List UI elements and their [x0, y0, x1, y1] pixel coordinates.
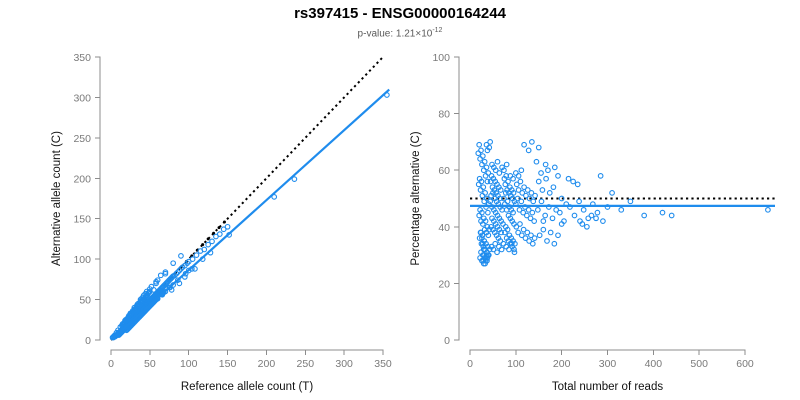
x-axis-title: Reference allele count (T)	[181, 381, 313, 393]
data-point	[539, 171, 544, 176]
y-tick-label: 50	[79, 295, 91, 307]
y-axis-line	[95, 57, 100, 340]
data-point	[179, 254, 184, 259]
data-point	[536, 208, 541, 213]
data-point	[483, 174, 488, 179]
data-point	[536, 179, 541, 184]
x-tick-label: 100	[180, 358, 198, 370]
data-point	[572, 213, 577, 218]
x-tick-label: 150	[219, 358, 237, 370]
data-point	[556, 233, 561, 238]
data-point	[171, 261, 176, 266]
x-tick-label: 400	[645, 358, 663, 370]
y-tick-label: 0	[85, 335, 91, 347]
y-tick-label: 200	[73, 173, 91, 185]
data-point	[575, 182, 580, 187]
data-point	[495, 250, 500, 255]
data-point	[766, 208, 771, 213]
data-point	[482, 159, 487, 164]
data-point	[476, 151, 481, 156]
data-point	[504, 244, 509, 249]
data-point	[546, 168, 551, 173]
data-point	[497, 244, 502, 249]
data-point	[595, 210, 600, 215]
x-tick-label: 100	[507, 358, 525, 370]
data-point	[194, 253, 199, 258]
data-point	[486, 210, 491, 215]
y-tick-label: 60	[438, 165, 450, 177]
data-point	[547, 191, 552, 196]
data-point	[550, 216, 555, 221]
percentage-alternative-panel: 0100200300400500600Total number of reads…	[400, 0, 800, 400]
median-marker	[207, 237, 210, 240]
data-point	[507, 247, 512, 252]
data-layer	[470, 140, 778, 266]
data-point	[505, 199, 510, 204]
data-point	[669, 213, 674, 218]
y-tick-label: 20	[438, 278, 450, 290]
data-point	[190, 257, 195, 262]
y-tick-label: 300	[73, 92, 91, 104]
data-point	[589, 213, 594, 218]
data-point	[512, 250, 517, 255]
data-point	[484, 142, 489, 147]
y-tick-label: 100	[73, 254, 91, 266]
data-point	[481, 168, 486, 173]
data-point	[478, 157, 483, 162]
data-point	[558, 210, 563, 215]
data-point	[594, 216, 599, 221]
data-point	[497, 171, 502, 176]
data-point	[522, 142, 527, 147]
data-point	[210, 239, 215, 244]
data-point	[543, 213, 548, 218]
data-point	[518, 222, 523, 227]
data-point	[504, 208, 509, 213]
data-point	[531, 199, 536, 204]
data-point	[545, 239, 550, 244]
data-point	[479, 148, 484, 153]
data-point	[660, 210, 665, 215]
y-tick-label: 150	[73, 214, 91, 226]
data-point	[543, 162, 548, 167]
data-point	[541, 219, 546, 224]
x-tick-label: 0	[467, 358, 473, 370]
data-point	[477, 213, 482, 218]
data-point	[218, 232, 223, 237]
data-point	[552, 241, 557, 246]
data-point	[483, 191, 488, 196]
data-point	[519, 168, 524, 173]
data-point	[478, 188, 483, 193]
data-point	[566, 176, 571, 181]
data-point	[526, 148, 531, 153]
data-point	[225, 225, 230, 230]
x-tick-label: 0	[108, 358, 114, 370]
data-point	[503, 182, 508, 187]
x-tick-label: 200	[553, 358, 571, 370]
data-point	[482, 199, 487, 204]
x-tick-label: 600	[736, 358, 754, 370]
y-tick-label: 100	[432, 52, 450, 64]
y-axis-line	[454, 57, 459, 340]
x-tick-label: 200	[258, 358, 276, 370]
data-point	[514, 171, 519, 176]
data-point	[481, 154, 486, 159]
allele-count-panel: 050100150200250300350Reference allele co…	[0, 0, 400, 400]
data-point	[518, 179, 523, 184]
y-tick-label: 250	[73, 133, 91, 145]
data-point	[642, 213, 647, 218]
data-point	[530, 210, 535, 215]
data-point	[619, 208, 624, 213]
y-axis-title: Alternative allele count (C)	[51, 131, 63, 266]
data-point	[610, 191, 615, 196]
data-point	[577, 199, 582, 204]
data-point	[480, 193, 485, 198]
data-point	[598, 174, 603, 179]
x-axis-title: Total number of reads	[552, 381, 663, 393]
data-point	[530, 140, 535, 145]
x-axis-line	[111, 350, 383, 355]
y-tick-label: 0	[444, 335, 450, 347]
data-point	[534, 159, 539, 164]
data-point	[532, 219, 537, 224]
data-point	[481, 185, 486, 190]
data-point	[533, 193, 538, 198]
data-point	[537, 233, 542, 238]
data-point	[480, 162, 485, 167]
median-marker	[223, 220, 226, 223]
data-point	[516, 174, 521, 179]
data-point	[548, 230, 553, 235]
data-point	[551, 185, 556, 190]
y-tick-label: 350	[73, 52, 91, 64]
y-axis-title: Percentage alternative (C)	[410, 131, 422, 265]
data-point	[556, 174, 561, 179]
data-point	[539, 199, 544, 204]
data-point	[540, 188, 545, 193]
y-tick-label: 80	[438, 109, 450, 121]
x-tick-label: 50	[144, 358, 156, 370]
data-point	[476, 182, 481, 187]
data-point	[601, 219, 606, 224]
data-point	[506, 179, 511, 184]
data-point	[544, 176, 549, 181]
data-point	[499, 247, 504, 252]
data-point	[541, 227, 546, 232]
figure-root: rs397415 - ENSG00000164244 p-value: 1.21…	[0, 0, 800, 400]
fit-line	[113, 90, 390, 339]
x-tick-label: 350	[374, 358, 392, 370]
data-point	[571, 179, 576, 184]
x-tick-label: 500	[690, 358, 708, 370]
data-point	[484, 165, 489, 170]
data-point	[628, 199, 633, 204]
data-point	[158, 273, 163, 278]
x-tick-label: 300	[599, 358, 617, 370]
data-point	[532, 236, 537, 241]
data-point	[530, 241, 535, 246]
data-point	[552, 165, 557, 170]
data-point	[495, 159, 500, 164]
x-tick-label: 250	[297, 358, 315, 370]
data-point	[519, 199, 524, 204]
data-point	[581, 208, 586, 213]
median-marker	[218, 226, 221, 229]
x-tick-label: 300	[335, 358, 353, 370]
data-point	[536, 145, 541, 150]
data-point	[511, 176, 516, 181]
data-point	[501, 241, 506, 246]
data-layer	[110, 57, 389, 340]
data-point	[504, 162, 509, 167]
median-marker	[201, 243, 204, 246]
data-point	[488, 179, 493, 184]
data-point	[477, 142, 482, 147]
y-tick-label: 40	[438, 222, 450, 234]
data-point	[585, 225, 590, 230]
